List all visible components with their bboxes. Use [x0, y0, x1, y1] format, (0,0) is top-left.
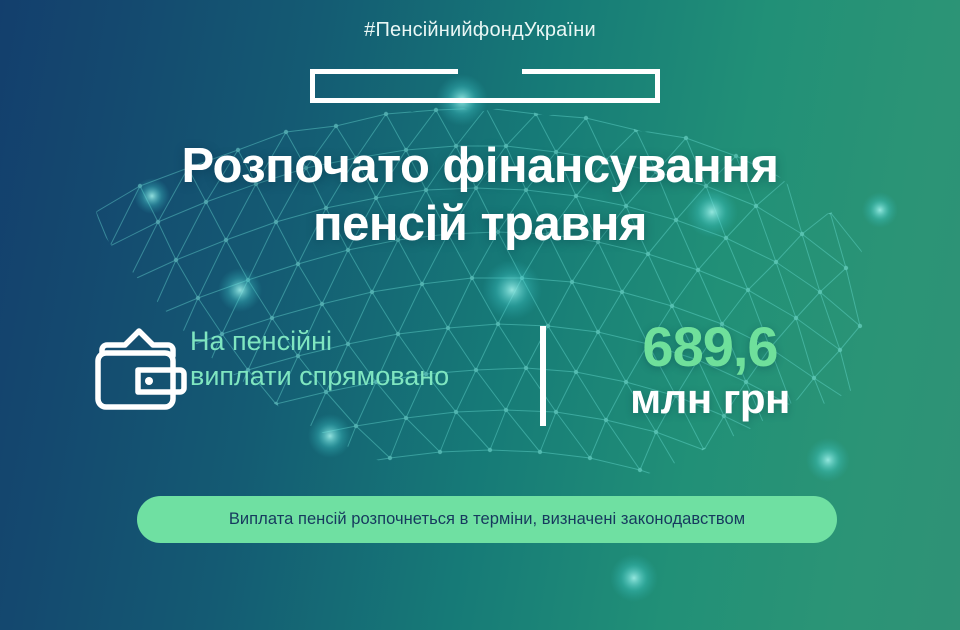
statistic-value: 689,6 млн грн [585, 318, 835, 422]
wallet-icon [92, 326, 188, 414]
footer-note-banner: Виплата пенсій розпочнеться в терміни, в… [137, 496, 837, 543]
footer-note-text: Виплата пенсій розпочнеться в терміни, в… [229, 510, 745, 529]
statistic-label: На пенсійні виплати спрямовано [190, 324, 520, 394]
statistic-label-line-1: На пенсійні [190, 324, 520, 359]
decorative-frame [310, 69, 660, 103]
headline-line-2: пенсій травня [0, 196, 960, 254]
hashtag: #ПенсійнийфондУкраїни [0, 19, 960, 42]
headline-line-1: Розпочато фінансування [0, 138, 960, 196]
statistic-unit: млн грн [585, 375, 835, 422]
frame-top-edge-left [310, 69, 458, 74]
page-title: Розпочато фінансування пенсій травня [0, 138, 960, 254]
frame-bottom-edge [310, 98, 660, 103]
frame-top-edge-right [522, 69, 660, 74]
vertical-divider [540, 326, 546, 426]
statistic-label-line-2: виплати спрямовано [190, 359, 520, 394]
statistic-row: На пенсійні виплати спрямовано 689,6 млн… [0, 318, 960, 433]
statistic-number: 689,6 [585, 318, 835, 375]
infographic-poster: #ПенсійнийфондУкраїни Розпочато фінансув… [0, 0, 960, 630]
